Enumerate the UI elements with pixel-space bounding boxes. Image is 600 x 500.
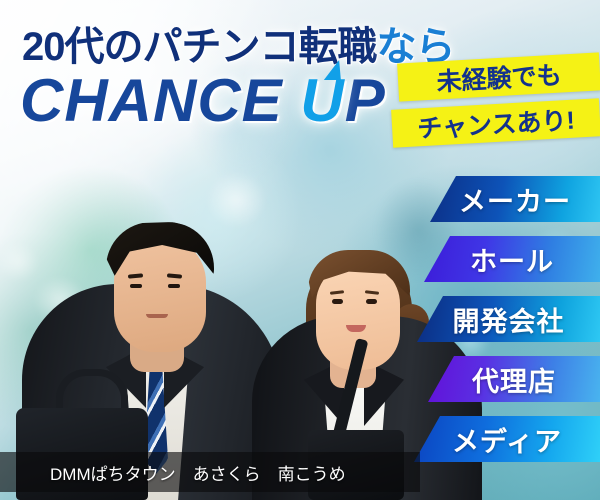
category-label: 代理店 — [472, 360, 556, 399]
headline-main: 20代のパチンコ転職 — [22, 25, 377, 69]
category-list: メーカー ホール 開発会社 代理店 メディア — [410, 176, 600, 462]
advertisement-banner[interactable]: 20代のパチンコ転職なら CHANCE UP 未経験でも チャンスあり! メーカ… — [0, 0, 600, 500]
badge-chance-label: チャンスあり! — [416, 101, 575, 146]
logo-letter-u: U — [300, 66, 344, 135]
category-label: ホール — [470, 240, 554, 279]
badge-experience-label: 未経験でも — [436, 56, 563, 99]
credit-bar: DMMぱちタウン あさくら 南こうめ — [0, 452, 420, 492]
category-item-agency[interactable]: 代理店 — [428, 356, 600, 402]
chance-up-logo: CHANCE UP — [20, 66, 386, 135]
category-label: 開発会社 — [453, 300, 565, 339]
category-item-hall[interactable]: ホール — [424, 236, 600, 282]
credit-text: DMMぱちタウン あさくら 南こうめ — [50, 460, 346, 485]
category-item-developer[interactable]: 開発会社 — [417, 296, 600, 342]
headline: 20代のパチンコ転職なら — [22, 14, 455, 72]
logo-word-chance: CHANCE — [20, 67, 300, 134]
category-label: メーカー — [459, 180, 571, 219]
category-item-maker[interactable]: メーカー — [430, 176, 600, 222]
logo-letter-p: P — [345, 67, 386, 134]
category-label: メディア — [452, 420, 562, 459]
male-model-photo — [22, 148, 282, 500]
category-item-media[interactable]: メディア — [414, 416, 600, 462]
